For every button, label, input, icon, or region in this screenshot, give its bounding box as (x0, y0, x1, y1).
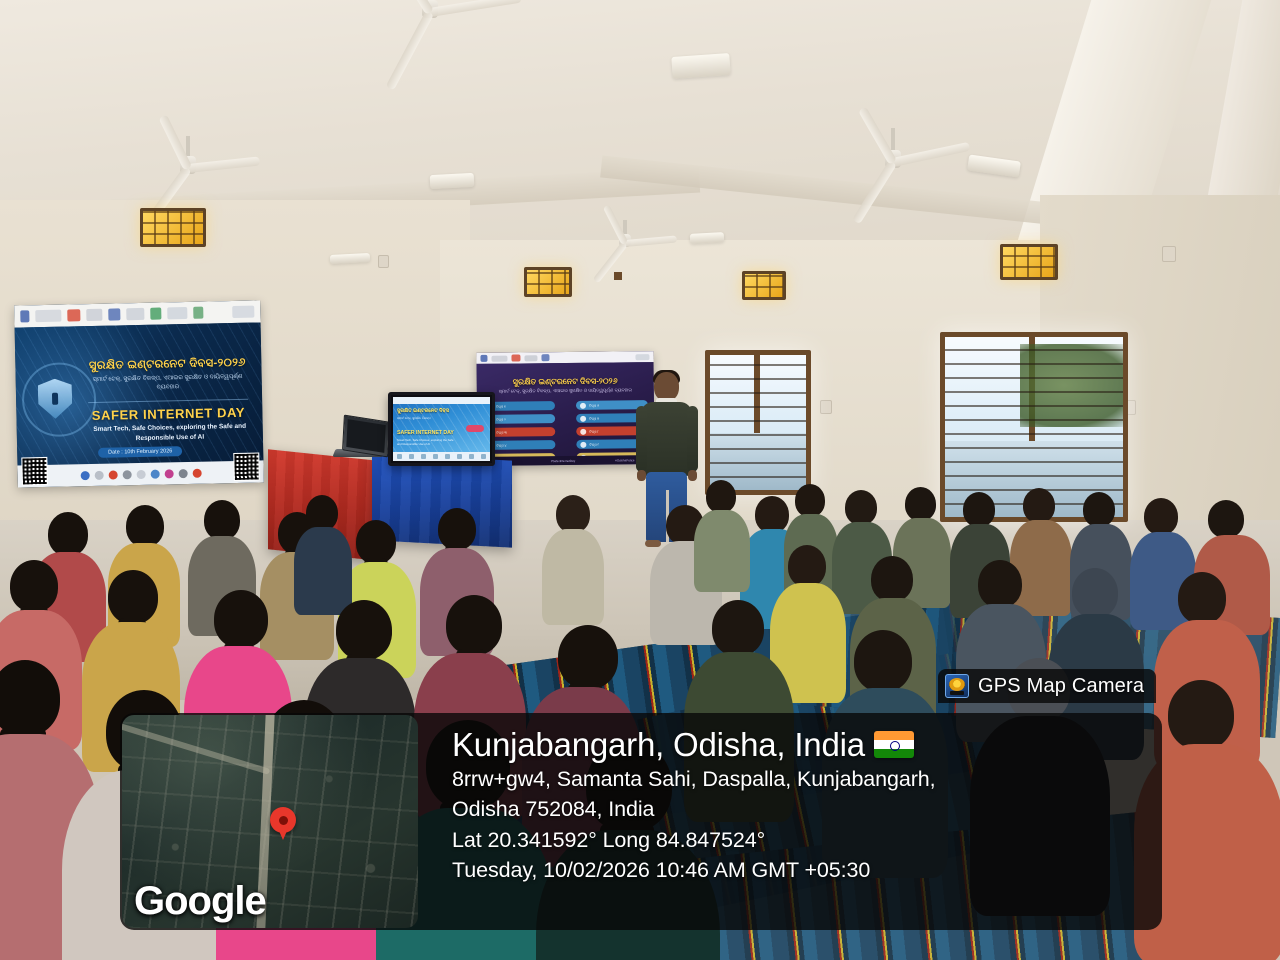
hashtag: #SaferInternetDay (551, 458, 575, 462)
logo-icon (491, 355, 507, 361)
pill-icon (580, 441, 586, 447)
ventilator-window (140, 208, 206, 247)
head (712, 600, 764, 656)
ventilator-window (742, 271, 786, 300)
slide-logo-strip (393, 397, 490, 404)
logo-icon (511, 354, 520, 361)
logo-emblem-icon (20, 310, 29, 322)
partner-icon (164, 469, 173, 478)
tube-light (671, 53, 730, 79)
logo-icon (635, 354, 649, 360)
logo-icon (150, 308, 161, 320)
pill-label: ଟିପ୍ସ ୪ (496, 443, 506, 447)
pill-label: ଟିପ୍ସ ୯ (589, 442, 599, 446)
pill-label: ଟିପ୍ସ ୩ (496, 430, 507, 434)
partner-icon (136, 469, 145, 478)
head (108, 570, 158, 624)
pill-icon (580, 428, 586, 434)
timestamp: Tuesday, 10/02/2026 10:46 AM GMT +05:30 (452, 855, 1152, 886)
head (336, 600, 392, 660)
banner-awareness-infographic: ସୁରକ୍ଷିତ ଇଣ୍ଟରନେଟ ଦିବସ-୨୦୨୬ ସ୍ମାର୍ଟ ଟେକ୍… (476, 351, 654, 466)
banner-artwork: ସୁରକ୍ଷିତ ଇଣ୍ଟରନେଟ ଦିବସ-୨୦୨୬ ସ୍ମାର୍ଟ ଟେକ୍… (477, 362, 655, 457)
tube-light (430, 173, 475, 189)
head (978, 560, 1022, 608)
head (1178, 572, 1226, 624)
head (306, 495, 338, 531)
logo-icon (67, 309, 80, 321)
window-back-small (614, 272, 622, 280)
logo-icon (193, 307, 203, 319)
pill-label: ଟିପ୍ସ ୨ (496, 417, 506, 421)
logo-icon (232, 306, 254, 318)
torso-sweater (641, 402, 692, 476)
presentation-tv: ସୁରକ୍ଷିତ ଇଣ୍ଟରନେଟ ଦିବସ ସ୍ମାର୍ଟ ଟେକ୍, ସୁର… (388, 392, 495, 466)
slide-icon (409, 454, 414, 459)
head (446, 595, 502, 655)
banner-safer-internet-day: ସୁରକ୍ଷିତ ଇଣ୍ଟରନେଟ ଦିବସ-୨୦୨୬ ସ୍ମାର୍ଟ ଟେକ୍… (14, 300, 264, 487)
head (558, 625, 618, 689)
location-title: Kunjabangarh, Odisha, India (452, 726, 865, 764)
head (788, 545, 826, 587)
head (755, 496, 789, 533)
india-flag-icon (874, 731, 914, 758)
pill-label: ଟିପ୍ସ ୭ (589, 416, 599, 420)
coordinates: Lat 20.341592° Long 84.847524° (452, 825, 1152, 856)
logo-icon (108, 308, 120, 320)
banner-date: Date : 10th February 2026 (98, 446, 182, 458)
ventilator-window (1000, 244, 1058, 280)
slide-icon (397, 454, 402, 459)
slide-icon (433, 454, 438, 459)
address-line-2: Odisha 752084, India (452, 794, 1152, 825)
banner-subtitle: Smart Tech, Safe Choices, exploring the … (87, 422, 253, 446)
partner-icon (192, 468, 201, 477)
laptop-screen[interactable] (342, 415, 390, 458)
pill-label: ଟିପ୍ସ ୮ (589, 429, 599, 433)
banner-odia-subtitle: ସ୍ମାର୍ଟ ଟେକ୍, ସୁରକ୍ଷିତ ବିକଳ୍ପ, ଏଆଇର ସୁରକ… (82, 373, 254, 395)
gps-info-text: Kunjabangarh, Odisha, India 8rrw+gw4, Sa… (452, 726, 1152, 886)
head (214, 590, 268, 648)
torso (694, 510, 750, 592)
torso (542, 529, 604, 625)
head (556, 495, 590, 533)
partner-icon (108, 470, 117, 479)
foot-left (645, 540, 661, 547)
logo-text-icon (35, 310, 61, 323)
map-road (122, 721, 270, 774)
partner-icon (150, 469, 159, 478)
head (1208, 500, 1244, 538)
slide-icon (421, 454, 426, 459)
gps-map-camera-badge: GPS Map Camera (938, 669, 1156, 703)
slide-icon (469, 454, 474, 459)
head (654, 372, 679, 401)
head (845, 490, 877, 525)
logo-icon (541, 354, 549, 361)
logo-icon (126, 308, 144, 320)
wall-switch-plate[interactable] (378, 255, 389, 268)
slide-title: SAFER INTERNET DAY (397, 430, 454, 436)
slide-icon (445, 454, 450, 459)
partner-icon (94, 470, 103, 479)
wall-switch-plate[interactable] (1162, 246, 1176, 262)
map-pin-icon (270, 807, 296, 833)
logo-icon (86, 309, 102, 321)
partner-icon (178, 469, 187, 478)
logo-icon (167, 307, 187, 319)
head (795, 484, 825, 517)
banner-odia-subtitle: ସ୍ମାର୍ଟ ଟେକ୍, ସୁରକ୍ଷିତ ବିକଳ୍ପ, ଏଆଇର ସୁରକ… (485, 387, 646, 396)
slide-subtitle: Smart Tech, Safe Choices, exploring the … (397, 438, 454, 446)
pill-icon (580, 402, 586, 408)
slide-icon (481, 454, 486, 459)
head (706, 480, 736, 513)
banner-title: SAFER INTERNET DAY (82, 405, 254, 424)
head (854, 630, 912, 692)
slide-badge (466, 425, 484, 432)
banner-odia-title: ସୁରକ୍ଷିତ ଇଣ୍ଟରନେଟ ଦିବସ-୨୦୨୬ (81, 357, 253, 374)
slide-odia-subtitle: ସ୍ମାର୍ଟ ଟେକ୍, ସୁରକ୍ଷିତ ବିକଳ୍ପ (397, 416, 486, 421)
banner-odia-title: ସୁରକ୍ଷିତ ଇଣ୍ଟରନେଟ ଦିବସ-୨୦୨୬ (483, 376, 648, 388)
divider (88, 399, 248, 403)
slide-odia-title: ସୁରକ୍ଷିତ ଇଣ୍ଟରନେଟ ଦିବସ (397, 408, 486, 414)
partner-icon (80, 471, 89, 480)
arm-left (636, 406, 647, 472)
hand-left (637, 470, 646, 481)
pill-label: ଟିପ୍ସ ୧ (496, 404, 506, 408)
head (1023, 488, 1055, 523)
tv-screen: ସୁରକ୍ଷିତ ଇଣ୍ଟରନେଟ ଦିବସ ସ୍ମାର୍ଟ ଟେକ୍, ସୁର… (393, 397, 490, 461)
pill-icon (580, 415, 586, 421)
head (10, 560, 58, 612)
wall-switch-plate[interactable] (820, 400, 832, 414)
torso (294, 527, 352, 615)
address-line-1: 8rrw+gw4, Samanta Sahi, Daspalla, Kunjab… (452, 764, 1152, 795)
slide-icon (457, 454, 462, 459)
partner-icon (122, 470, 131, 479)
slide-footer-icons (393, 452, 490, 461)
google-watermark: Google (134, 879, 266, 924)
tube-light (690, 232, 724, 244)
head (1072, 568, 1118, 618)
gps-app-label: GPS Map Camera (978, 675, 1144, 698)
qr-code-icon (233, 452, 260, 481)
qr-code-icon (21, 457, 48, 486)
head (871, 556, 913, 602)
camera-icon (945, 674, 969, 698)
logo-icon (480, 355, 487, 362)
map-thumbnail[interactable]: Google (122, 715, 418, 928)
torso (1010, 520, 1072, 616)
head (905, 487, 936, 521)
logo-icon (524, 355, 537, 361)
arm-right (687, 406, 698, 472)
head (1083, 492, 1115, 527)
head (1168, 680, 1234, 750)
window-right-near (705, 350, 811, 495)
banner-artwork: ସୁରକ୍ଷିତ ଇଣ୍ଟରନେଟ ଦିବସ-୨୦୨୬ ସ୍ମାର୍ଟ ଟେକ୍… (15, 322, 264, 465)
ventilator-window (524, 267, 572, 297)
hand-right (688, 470, 697, 481)
location-title-row: Kunjabangarh, Odisha, India (452, 726, 1152, 764)
hashtag: #OdishaPolice (615, 458, 634, 462)
photo-canvas: ସୁରକ୍ଷିତ ଇଣ୍ଟରନେଟ ଦିବସ-୨୦୨୬ ସ୍ମାର୍ଟ ଟେକ୍… (0, 0, 1280, 960)
head (1144, 498, 1178, 535)
head (963, 492, 995, 527)
pill-label: ଟିପ୍ସ ୬ (589, 403, 599, 407)
